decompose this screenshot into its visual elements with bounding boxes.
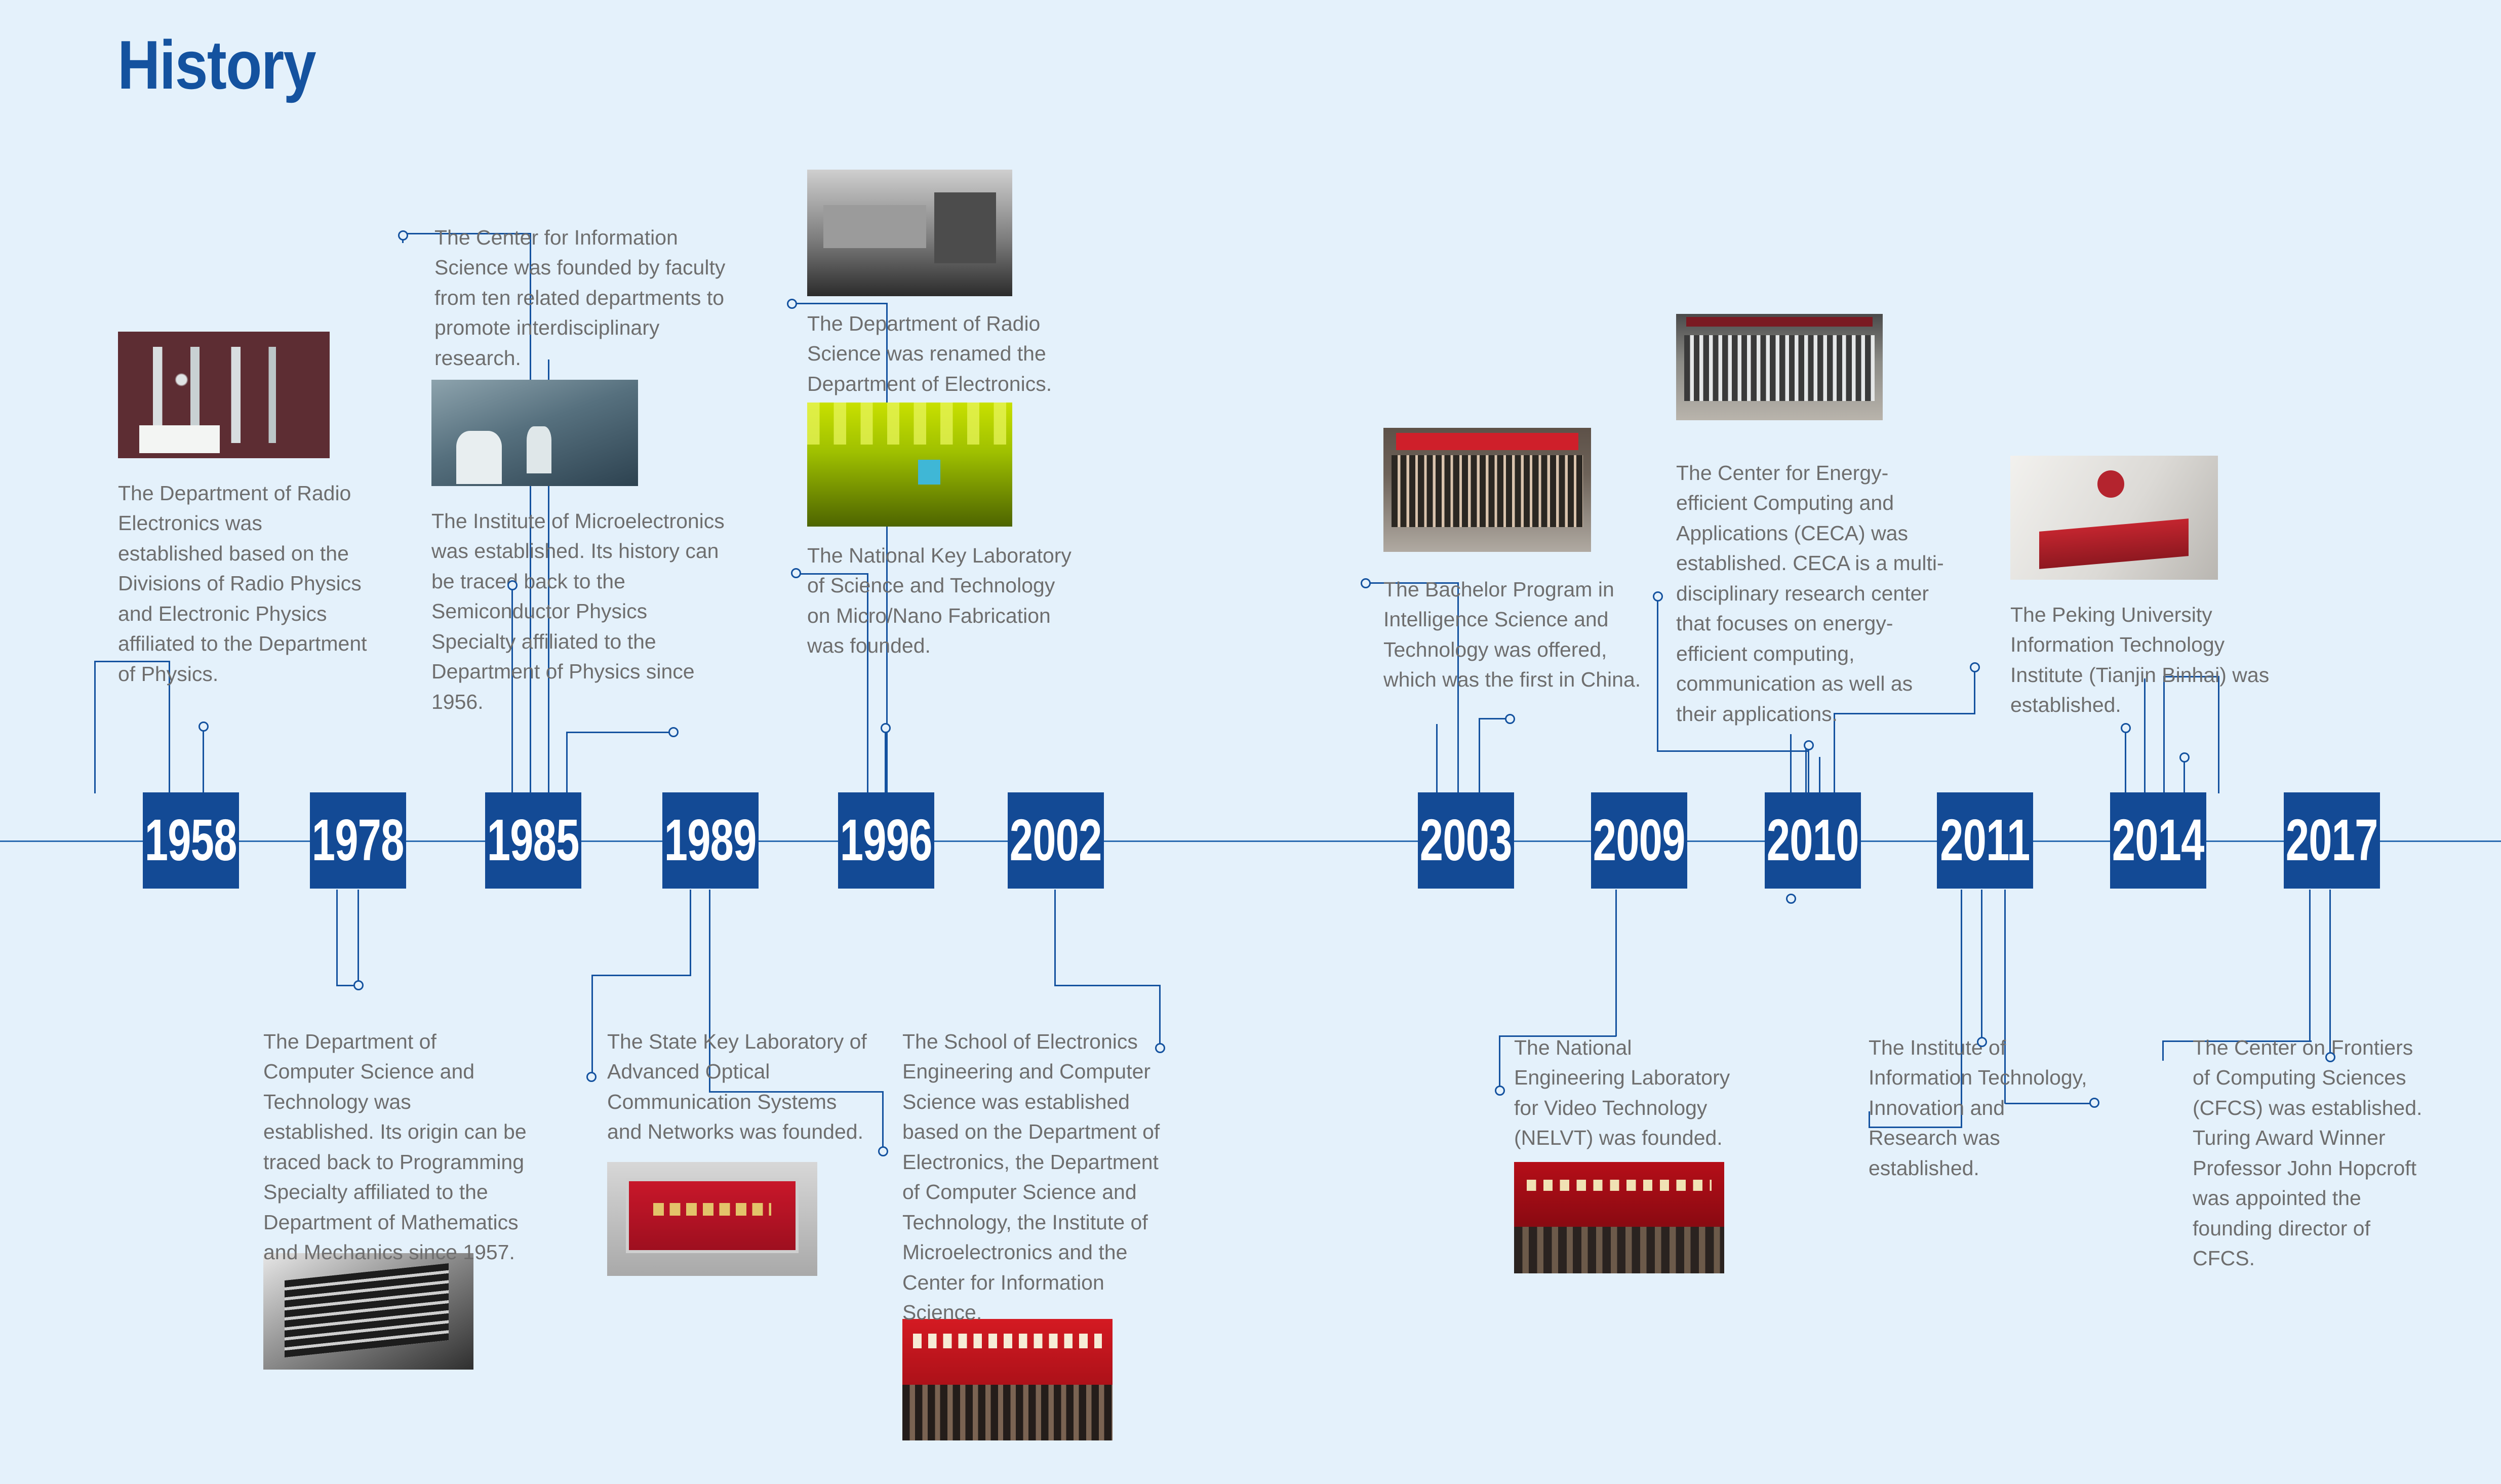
connector-dot-1989-b [878, 1146, 888, 1156]
connector-1989-a [690, 890, 691, 976]
event-text-2009: The National Engineering Laboratory for … [1514, 1033, 1737, 1153]
year-label: 2011 [1940, 811, 2030, 870]
event-text-1996-renamed: The Department of Radio Science was rena… [807, 309, 1081, 399]
connector-2017-a [2309, 890, 2311, 1041]
connector-2017-b [2329, 890, 2331, 1057]
graduates-group-photo [1383, 428, 1591, 552]
connector-2010-e [1819, 757, 1820, 793]
year-label: 1958 [145, 811, 237, 870]
connector-2002-h [1054, 985, 1161, 986]
event-text-2011: The Institute of Information Technology,… [1869, 1033, 2091, 1183]
event-text-2014: The Peking University Information Techno… [2010, 600, 2286, 720]
year-marker-1985[interactable]: 1985 [485, 792, 581, 889]
connector-2003-c-h [1479, 718, 1509, 719]
year-marker-2010[interactable]: 2010 [1765, 792, 1861, 889]
connector-dot-1958 [199, 721, 209, 732]
year-label: 1985 [487, 811, 579, 870]
connector-dot-1985-c [668, 727, 679, 737]
event-text-2003: The Bachelor Program in Intelligence Sci… [1383, 575, 1642, 695]
event-text-1978: The Department of Computer Science and T… [263, 1027, 527, 1268]
year-label: 1978 [312, 811, 404, 870]
connector-dot-1996-a [791, 568, 801, 578]
connector-dot-2010-a [1786, 894, 1796, 904]
ceca-group-photo [1676, 314, 1883, 420]
event-text-1996-nanofab: The National Key Laboratory of Science a… [807, 541, 1081, 661]
connector-dot-2003-c [1505, 714, 1515, 724]
year-marker-2002[interactable]: 2002 [1008, 792, 1104, 889]
connector-2009-v2 [1499, 1035, 1500, 1091]
connector-2010-b-v [1657, 597, 1658, 751]
event-text-1958: The Department of Radio Electronics was … [118, 478, 371, 689]
year-label: 2014 [2112, 811, 2204, 870]
event-text-1985-center: The Center for Information Science was f… [434, 223, 733, 373]
connector-1958-a [94, 661, 96, 793]
connector-dot-2010-g [1804, 740, 1814, 750]
connector-2003-a [1436, 724, 1438, 793]
green-cleanroom-photo [807, 403, 1012, 527]
connector-2010-f-v [1974, 668, 1975, 714]
connector-1978-b [336, 890, 338, 986]
cleanroom-photo [431, 380, 638, 486]
connector-dot-1985-b [398, 230, 408, 240]
connector-2010-b-h [1657, 750, 1809, 752]
event-text-2002: The School of Electronics Engineering an… [902, 1027, 1161, 1328]
event-text-2010: The Center for Energy-efficient Computin… [1676, 458, 1952, 729]
connector-dot-1996-b [787, 299, 797, 309]
connector-1989-a2 [591, 975, 593, 1078]
year-marker-1958[interactable]: 1958 [143, 792, 239, 889]
connector-2010-c [1805, 747, 1807, 793]
connector-dot-2011-b [1977, 1037, 1987, 1047]
connector-2009-a [1615, 890, 1617, 1036]
year-label: 2009 [1593, 811, 1685, 870]
connector-2010-b [1808, 749, 1809, 793]
year-label: 2010 [1767, 811, 1859, 870]
connector-2014-a [2125, 729, 2126, 793]
connector-dot-1985-a [507, 580, 518, 590]
connector-dot-2002 [1155, 1043, 1165, 1053]
connector-dot-2010-b [1653, 591, 1663, 601]
connector-2002-a [1054, 890, 1056, 986]
connector-2011-b [1981, 890, 1982, 1041]
year-label: 2003 [1420, 811, 1512, 870]
founding-ceremony-photo [902, 1319, 1113, 1440]
red-plaque-photo [607, 1162, 817, 1276]
year-marker-2003[interactable]: 2003 [1418, 792, 1514, 889]
year-marker-1989[interactable]: 1989 [662, 792, 759, 889]
banquet-photo [1514, 1162, 1724, 1273]
connector-1996-c [885, 729, 886, 793]
radio-instruments-photo [118, 332, 330, 458]
connector-1989-a-h [592, 975, 691, 976]
connector-1978-a [358, 890, 359, 986]
connector-dot-1978 [353, 980, 364, 990]
year-marker-1978[interactable]: 1978 [310, 792, 406, 889]
connector-1985-d-h [566, 732, 672, 733]
page-title: History [117, 30, 315, 99]
connector-dot-2014-b [2121, 723, 2131, 733]
year-marker-1996[interactable]: 1996 [838, 792, 934, 889]
connector-1958-c [203, 729, 204, 793]
history-timeline-infographic: History 1958 1978 1985 1989 1996 2002 20… [0, 0, 2501, 1484]
event-text-2017: The Center on Frontiers of Computing Sci… [2193, 1033, 2436, 1274]
year-label: 1989 [664, 811, 757, 870]
year-marker-2011[interactable]: 2011 [1937, 792, 2033, 889]
event-text-1985-microelectronics: The Institute of Microelectronics was es… [431, 506, 730, 717]
connector-dot-2014-d [2179, 752, 2190, 763]
connector-dot-2009 [1495, 1086, 1505, 1096]
early-computer-photo [263, 1253, 473, 1370]
connector-dot-2017 [2325, 1052, 2335, 1062]
connector-2014-d [2184, 758, 2185, 793]
vintage-lab-photo [807, 170, 1012, 296]
year-marker-2014[interactable]: 2014 [2110, 792, 2206, 889]
institute-lobby-photo [2010, 456, 2218, 580]
year-label: 2017 [2286, 811, 2378, 870]
connector-1996-b-h [791, 303, 888, 304]
year-marker-2017[interactable]: 2017 [2284, 792, 2380, 889]
connector-2010-a [1790, 734, 1792, 793]
connector-2017-v2 [2162, 1040, 2164, 1061]
connector-dot-1996-c [881, 723, 891, 733]
year-marker-2009[interactable]: 2009 [1591, 792, 1687, 889]
connector-1985-d [566, 732, 568, 793]
year-label: 1996 [840, 811, 932, 870]
year-label: 2002 [1010, 811, 1102, 870]
event-text-1989: The State Key Laboratory of Advanced Opt… [607, 1027, 870, 1147]
connector-dot-2010-f [1970, 662, 1980, 672]
connector-dot-2011-a [2089, 1098, 2099, 1108]
connector-dot-1989-a [586, 1072, 597, 1082]
connector-dot-2003-a [1361, 578, 1371, 588]
connector-1989-b-v2 [882, 1091, 884, 1152]
connector-2003-c [1479, 718, 1480, 793]
